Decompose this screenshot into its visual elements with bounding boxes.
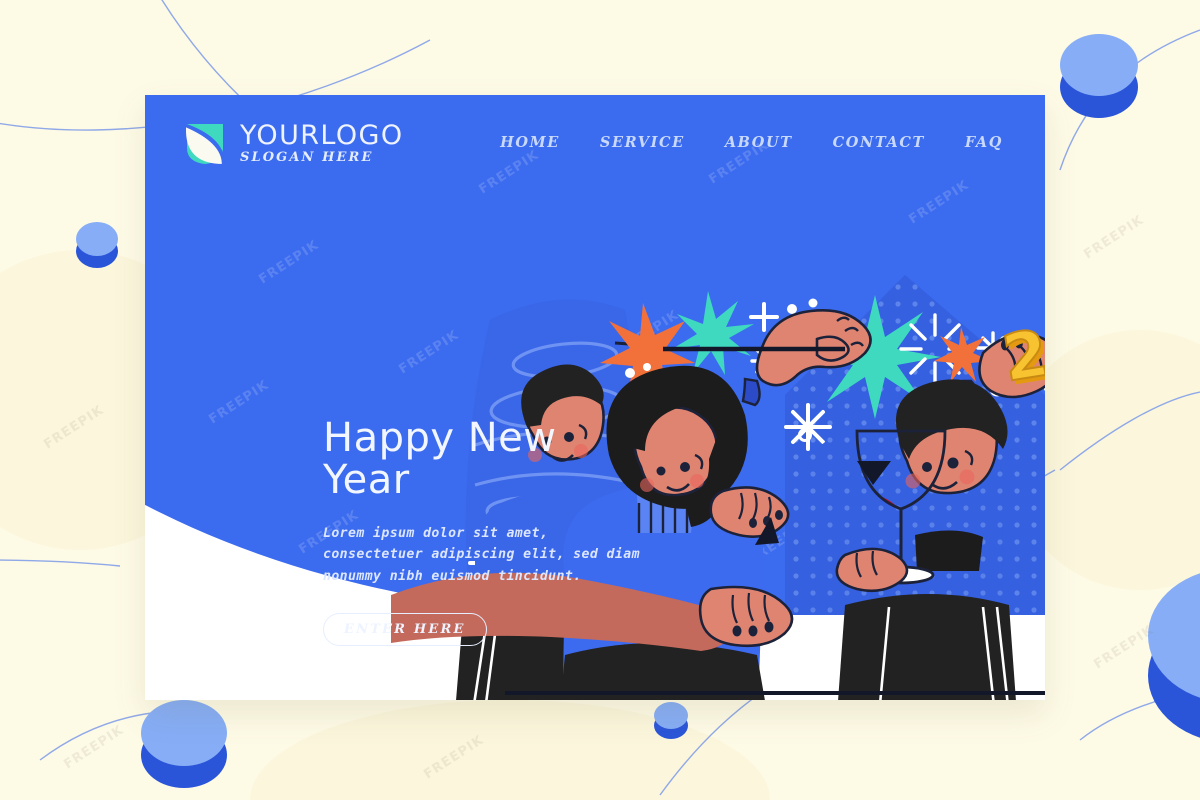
- hero-copy: Happy New Year Lorem ipsum dolor sit ame…: [323, 417, 653, 646]
- nav-item-about[interactable]: ABOUT: [725, 134, 793, 151]
- decor-cylinder-left: [76, 222, 118, 266]
- brand-block[interactable]: YOURLOGO SLOGAN HERE: [183, 120, 404, 166]
- hero-section: 2022 2022: [145, 95, 1045, 700]
- white-sparkle-icon: [786, 405, 830, 449]
- nav-item-faq[interactable]: FAQ: [965, 134, 1003, 151]
- landing-page-card: 2022 2022: [145, 95, 1045, 700]
- decor-cylinder-bottom-center: [654, 702, 688, 738]
- nav-item-service[interactable]: SERVICE: [600, 134, 685, 151]
- page-title: Happy New Year: [323, 417, 653, 501]
- brand-name: YOURLOGO: [240, 122, 404, 149]
- hand-holding-glass: [837, 549, 907, 591]
- plus-icon: [751, 304, 777, 330]
- enter-here-button[interactable]: ENTER HERE: [323, 613, 487, 646]
- brand-slogan: SLOGAN HERE: [240, 151, 404, 164]
- nav-item-home[interactable]: HOME: [500, 134, 560, 151]
- cylinder-top: [76, 222, 118, 256]
- decor-cylinder-bottom-left: [141, 700, 227, 786]
- cylinder-top: [1060, 34, 1138, 96]
- leaf-shield-logo-icon: [183, 120, 227, 166]
- site-header: YOURLOGO SLOGAN HERE HOME SERVICE ABOUT …: [145, 95, 1045, 190]
- main-nav: HOME SERVICE ABOUT CONTACT FAQ: [500, 134, 1003, 151]
- hero-subtext: Lorem ipsum dolor sit amet, consectetuer…: [323, 523, 653, 587]
- decor-cylinder-bottom-right: [1148, 568, 1200, 743]
- decor-cylinder-top-right: [1060, 34, 1138, 114]
- nav-item-contact[interactable]: CONTACT: [833, 134, 925, 151]
- cylinder-top: [141, 700, 227, 766]
- cylinder-top: [654, 702, 688, 729]
